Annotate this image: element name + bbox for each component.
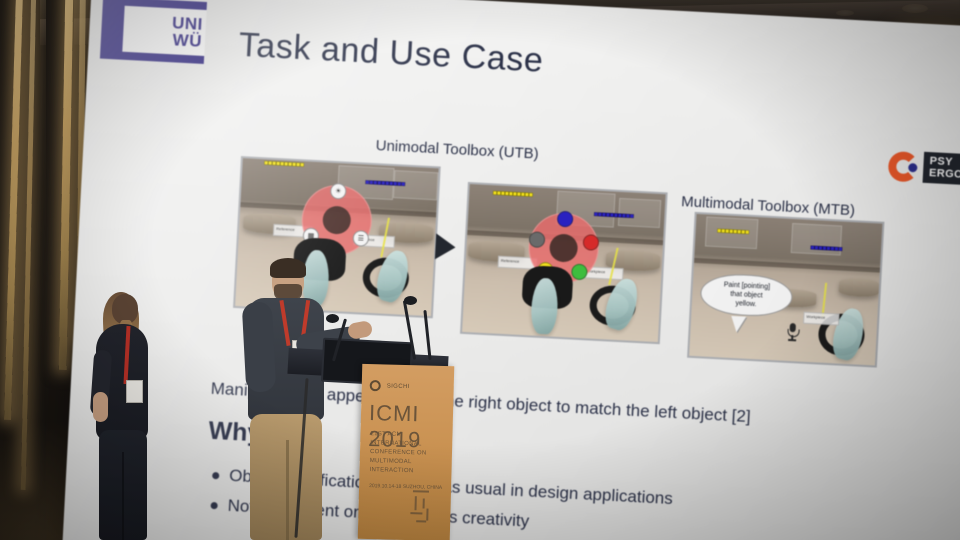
forearm (93, 392, 108, 422)
shoulder (242, 301, 277, 392)
slide-title: Task and Use Case (238, 26, 545, 81)
microphone-head (404, 296, 417, 305)
uni-logo-line2: WÜ (172, 31, 202, 50)
acm-logo-icon (370, 380, 381, 391)
vr-wall-panel (618, 198, 661, 228)
bullet-dot-icon (212, 471, 219, 478)
university-logo: UNI WÜ (100, 0, 207, 64)
conference-badge (126, 380, 143, 403)
podium-subtitle: 21ST ACM INTERNATIONAL CONFERENCE ON MUL… (369, 430, 448, 477)
vr-wall-panel (791, 223, 843, 256)
presentation-slide: UNI WÜ Task and Use Case PSY ERGO (61, 0, 960, 540)
c-mark-icon (888, 150, 920, 182)
microphone-icon (786, 323, 799, 342)
bullet-dot-icon (211, 501, 218, 508)
podium-decorative-glyph (408, 488, 439, 531)
sigchi-label: SIGCHI (387, 383, 410, 390)
podium-signage: SIGCHI ICMI 2019 21ST ACM INTERNATIONAL … (358, 364, 455, 540)
color-swatch-blue[interactable] (557, 211, 574, 228)
bubble-tail (730, 316, 746, 333)
flow-arrow-icon (435, 233, 456, 260)
menu-item-palette-icon[interactable]: ☀ (330, 183, 347, 200)
ergo-label: ERGO (929, 167, 960, 181)
leg-split (122, 452, 124, 540)
caption-unimodal-toolbox: Unimodal Toolbox (UTB) (375, 137, 539, 163)
psy-ergo-logo: PSY ERGO (888, 150, 960, 185)
microphone-head (326, 314, 339, 323)
vr-panel-utb-color-menu: Reference Workpiece (460, 182, 668, 344)
vr-panel-mtb-voice: Paint [pointing] that object yellow. Wor… (687, 212, 884, 368)
vr-pedestal (839, 278, 880, 298)
color-swatch-gray[interactable] (529, 231, 546, 248)
hair (270, 258, 306, 278)
leg-split (286, 440, 289, 540)
color-swatch-red[interactable] (583, 234, 600, 251)
screenshot-root: UNI WÜ Task and Use Case PSY ERGO (0, 0, 960, 540)
psy-ergo-wordmark: PSY ERGO (923, 152, 960, 185)
vr-scene-label: Workpiece (803, 312, 840, 326)
vr-panel-utb-icon-menu: Reference Workpiece (233, 156, 441, 318)
podium-logos: SIGCHI (370, 380, 410, 392)
projection-screen: UNI WÜ Task and Use Case PSY ERGO (61, 0, 960, 540)
